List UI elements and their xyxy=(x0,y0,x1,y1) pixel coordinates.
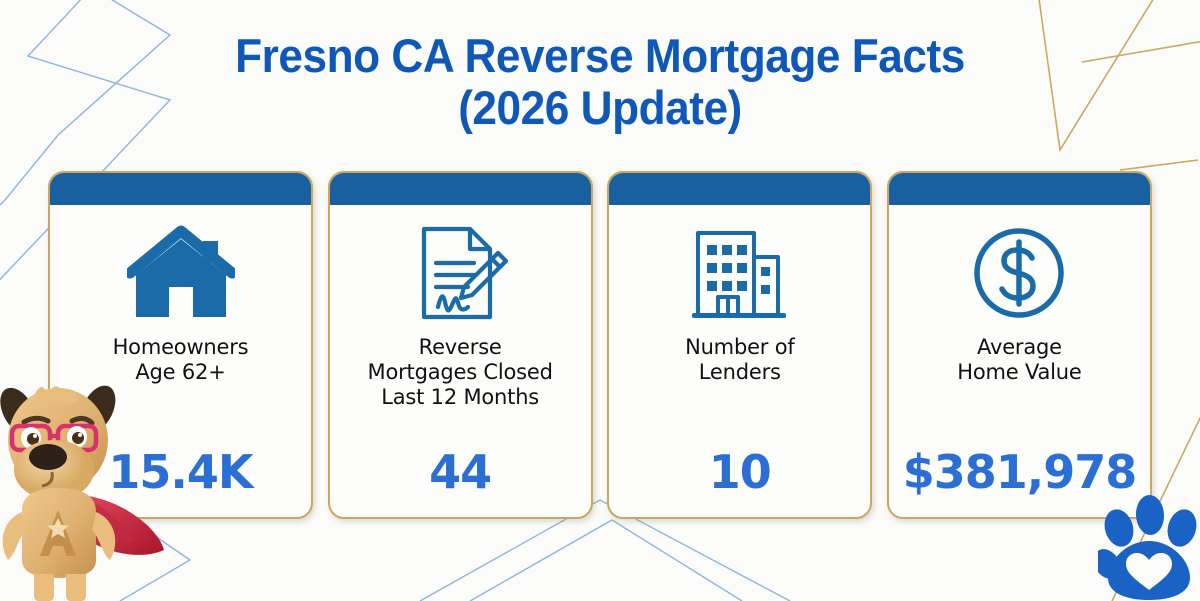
page-title-line-1: Fresno CA Reverse Mortgage Facts xyxy=(36,30,1164,82)
card-value: 44 xyxy=(429,447,491,503)
card-body: Reverse Mortgages Closed Last 12 Months … xyxy=(330,205,591,517)
stat-card-lenders[interactable]: Number of Lenders 10 xyxy=(607,171,872,519)
office-building-icon xyxy=(686,221,794,325)
stat-card-home-value[interactable]: Average Home Value $381,978 xyxy=(887,171,1152,519)
page-title-line-2: (2026 Update) xyxy=(36,82,1164,134)
card-header-bar xyxy=(889,173,1150,205)
dollar-circle-icon xyxy=(969,221,1069,325)
house-icon xyxy=(127,221,235,325)
card-header-bar xyxy=(609,173,870,205)
card-label: Average Home Value xyxy=(957,335,1081,385)
superhero-dog-mascot xyxy=(0,378,170,601)
page-title: Fresno CA Reverse Mortgage Facts (2026 U… xyxy=(0,30,1200,134)
blue-paw-print-icon xyxy=(1098,494,1200,601)
card-body: Number of Lenders 10 xyxy=(609,205,870,517)
card-label: Reverse Mortgages Closed Last 12 Months xyxy=(368,335,553,410)
card-value: 10 xyxy=(709,447,771,503)
stat-card-mortgages-closed[interactable]: Reverse Mortgages Closed Last 12 Months … xyxy=(328,171,593,519)
stat-card-row: Homeowners Age 62+ 15.4K xyxy=(48,171,1152,519)
card-label: Number of Lenders xyxy=(685,335,794,385)
card-header-bar xyxy=(50,173,311,205)
document-signature-icon xyxy=(412,221,508,325)
card-body: Average Home Value $381,978 xyxy=(889,205,1150,517)
card-header-bar xyxy=(330,173,591,205)
